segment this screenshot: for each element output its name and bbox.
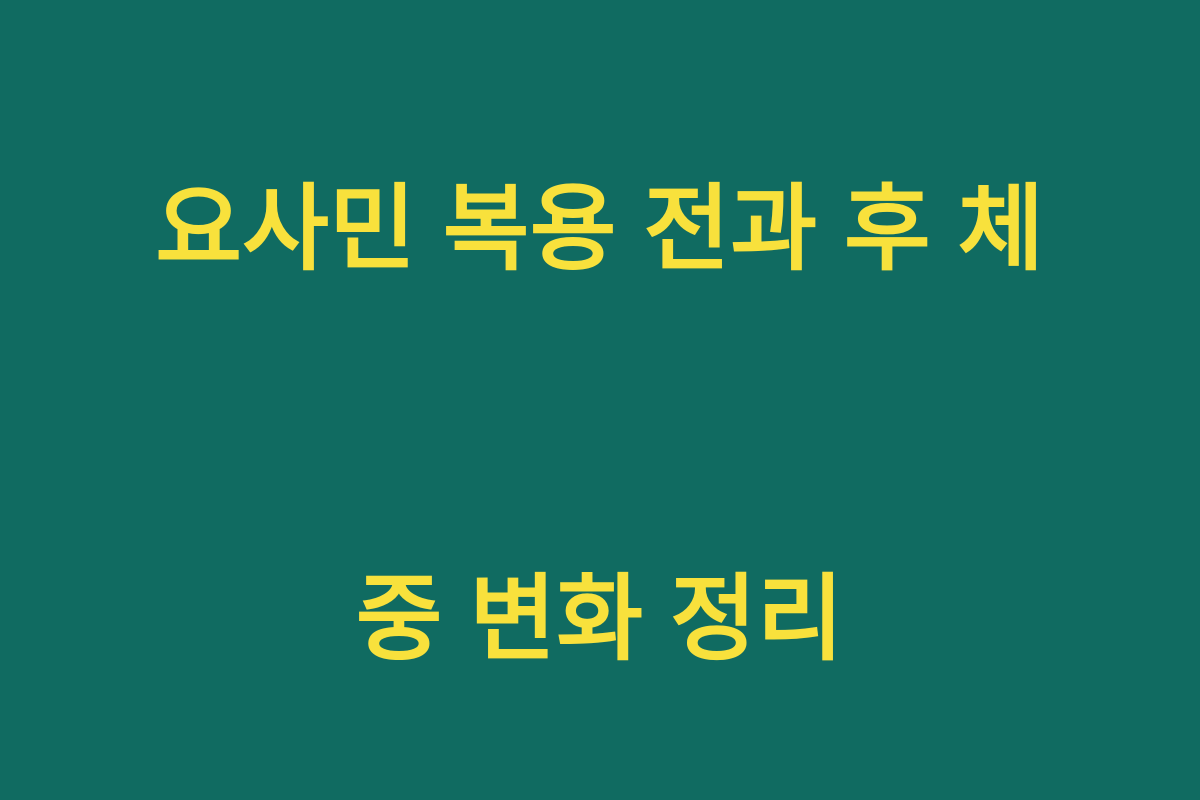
headline-line-1: 요사민 복용 전과 후 체 xyxy=(80,164,1120,294)
headline: 요사민 복용 전과 후 체 중 변화 정리 xyxy=(80,0,1120,800)
headline-line-2: 중 변화 정리 xyxy=(80,554,1120,684)
title-card: 요사민 복용 전과 후 체 중 변화 정리 xyxy=(0,0,1200,800)
